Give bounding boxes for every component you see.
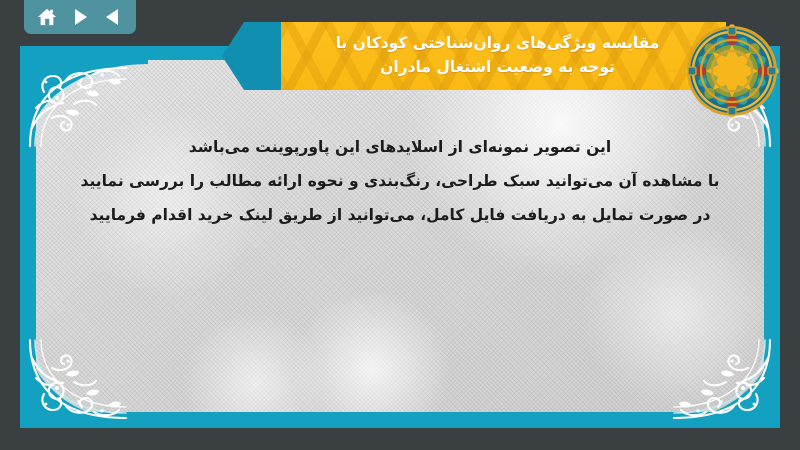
body-line-1: این تصویر نمونه‌ای از اسلایدهای این پاور… [60,130,740,164]
home-button[interactable] [33,4,61,30]
body-line-3: در صورت تمایل به دریافت فایل کامل، می‌تو… [60,198,740,232]
slide-title-banner: مقایسه ویژگی‌های روان‌شناختی کودکان با ت… [281,22,726,90]
mandala-ornament [684,23,780,119]
triangle-left-icon [102,7,124,27]
slide-viewer: مقایسه ویژگی‌های روان‌شناختی کودکان با ت… [0,0,800,450]
slide-frame [20,46,780,428]
next-slide-button[interactable] [66,4,94,30]
slide-navigation-bar [24,0,136,34]
slide-content-area [36,60,764,412]
title-banner-arrow [222,22,284,90]
triangle-right-icon [69,7,91,27]
slide-body-text: این تصویر نمونه‌ای از اسلایدهای این پاور… [60,130,740,232]
body-line-2: با مشاهده آن می‌توانید سبک طراحی، رنگ‌بن… [60,164,740,198]
previous-slide-button[interactable] [99,4,127,30]
home-icon [36,7,58,27]
page-title: مقایسه ویژگی‌های روان‌شناختی کودکان با ت… [336,32,660,79]
